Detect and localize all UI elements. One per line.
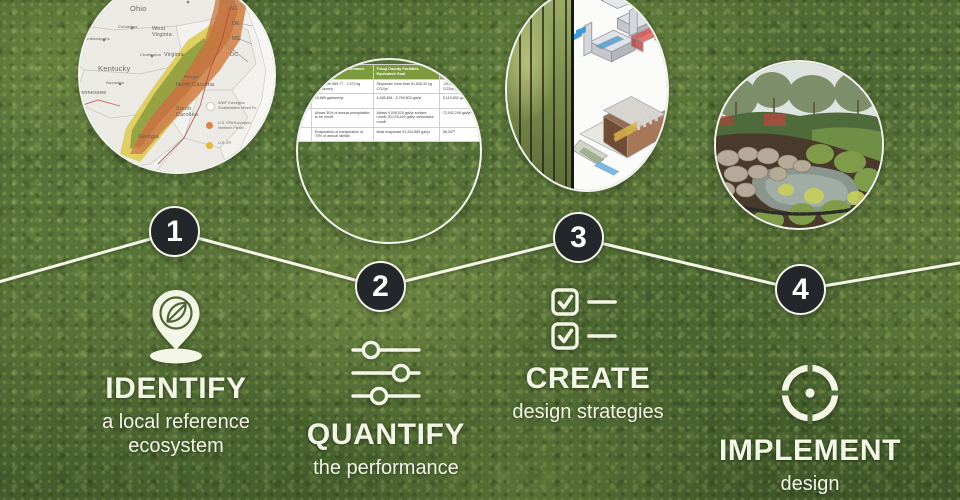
map-pin-leaf-icon <box>145 288 207 364</box>
photo-design-strategies <box>505 0 669 192</box>
step-number: 1 <box>166 217 183 247</box>
step-subtitle-line1: the performance <box>298 457 474 481</box>
step-block-create[interactable]: CREATE design strategies <box>498 286 678 425</box>
legend-label-line2: Southeastern Mixed Fo. <box>218 106 257 111</box>
step-number: 3 <box>570 223 587 253</box>
step-block-identify[interactable]: IDENTIFY a local reference ecosystem <box>86 288 266 458</box>
table-cell-metric: off Rate <box>296 108 312 127</box>
photo-performance-table: ce Ecosystem Performance Troup County Fa… <box>296 58 482 244</box>
legend-label-line1: U.S. EP. <box>218 141 232 146</box>
map-label-state: Ohio <box>130 4 147 13</box>
step-badge-3[interactable]: 3 <box>553 212 604 263</box>
legend-swatch <box>206 142 213 149</box>
map-label-state: Tennessee <box>78 90 106 96</box>
map-label-city: Indianapolis <box>86 36 110 41</box>
legend-label-line2: Northern Piedm. <box>218 126 251 131</box>
map-label-city: Raleigh <box>184 74 199 79</box>
map-label-state: MD <box>232 36 241 42</box>
performance-table: ce Ecosystem Performance Troup County Fa… <box>296 64 482 142</box>
step-number: 2 <box>372 272 389 302</box>
table-row: Sustainable Watershed Consumptive Use 10… <box>296 94 482 108</box>
step-title: QUANTIFY <box>298 418 474 452</box>
map-label-state: NJ <box>230 6 237 12</box>
table-cell-facility: -25,254,717.1 to -29,219,909.7 kg CO2/yr… <box>440 79 482 93</box>
map-label-city: Charleston <box>140 52 161 57</box>
step-title: IDENTIFY <box>86 372 266 406</box>
map-label-city: Columbus <box>118 24 138 29</box>
step-subtitle-line2: ecosystem <box>86 435 266 459</box>
map-label-city: Nashville <box>106 80 124 85</box>
table-header-cell: ce Ecosystem Performance <box>312 65 374 80</box>
step-badge-2[interactable]: 2 <box>355 261 406 312</box>
table-cell-goal: Allows 9,008,515 gal/yr surface runoff; … <box>374 108 440 127</box>
table-cell-reference: Allows 30% of annual precipitation to be… <box>312 108 374 127</box>
table-row: off Rate Allows 30% of annual precipitat… <box>296 108 482 127</box>
photo-ecoregion-map: Pennsylvania Ohio NJ DE MD DC West Virgi… <box>78 0 276 174</box>
table-cell-facility: 5,119,832 gal/yr <box>440 94 482 108</box>
map-label-state: Virginia <box>164 52 184 58</box>
step-block-implement[interactable]: IMPLEMENT design <box>700 362 920 497</box>
table-cell-reference: Sequester 889.77 - 1,972 kg CO2/acre/y <box>312 79 374 93</box>
table-cell-reference: 10,689 gal/acre/yr <box>312 94 374 108</box>
legend-entry: U.S. EPA Ecoregion Northern Piedm. <box>218 121 251 130</box>
legend-entry: WWF Ecoregion Southeastern Mixed Fo. <box>218 101 257 110</box>
step-subtitle-line1: design strategies <box>498 401 678 425</box>
table-cell-goal: 4,458,484 - 5,769,803 gal/yr <box>374 94 440 108</box>
step-subtitle-line1: a local reference <box>86 411 266 435</box>
table-cell-facility: 58,347³ <box>440 127 482 141</box>
legend-swatch <box>206 122 213 129</box>
step-title: CREATE <box>498 362 678 396</box>
table-cell-goal: Must evaporate 91,202,869 gal/yr <box>374 127 440 141</box>
target-icon <box>779 362 841 424</box>
table-header-cell: Troup County Facilities Equivalent Goal <box>374 65 440 80</box>
checklist-icon <box>549 286 627 352</box>
legend-label-line1: U.S. EPA Ecoregion <box>218 121 251 126</box>
table-row: on questration Sequester 889.77 - 1,972 … <box>296 79 482 93</box>
step-block-quantify[interactable]: QUANTIFY the performance <box>298 336 474 481</box>
table-row: n Evaporation or transpiration of 70% of… <box>296 127 482 141</box>
map-label-state: South Carolina <box>176 106 200 118</box>
isometric-building-diagram-icon <box>574 80 667 188</box>
map-label-state: DE <box>232 21 240 27</box>
sliders-icon <box>347 336 425 408</box>
table-header-blank <box>296 65 312 80</box>
diagram-panel <box>574 0 667 190</box>
map-label-state: West Virginia <box>152 26 180 38</box>
table-header-row: ce Ecosystem Performance Troup County Fa… <box>296 65 482 80</box>
legend-entry: U.S. EP. <box>218 141 232 146</box>
photo-rain-garden <box>714 60 884 230</box>
forest-photo-strip <box>507 0 574 190</box>
step-title: IMPLEMENT <box>700 434 920 468</box>
table-cell-goal: Sequester more than 81,845.30 kg CO2/yr <box>374 79 440 93</box>
map-label-state: Georgia <box>138 134 159 140</box>
map-label-state: DC <box>230 52 238 58</box>
step-number: 4 <box>792 275 809 305</box>
step-badge-1[interactable]: 1 <box>149 206 200 257</box>
table-cell-facility: 72,042,246 gal/yr² <box>440 108 482 127</box>
map-label-state: Kentucky <box>98 64 130 73</box>
table-header-cell: Facilitie <box>440 65 482 80</box>
table-cell-metric: n <box>296 127 312 141</box>
legend-swatch <box>206 102 215 111</box>
step-subtitle-line1: design <box>700 473 920 497</box>
table-cell-metric: on questration <box>296 79 312 93</box>
table-cell-reference: Evaporation or transpiration of 70% of a… <box>312 127 374 141</box>
table-cell-metric: Sustainable Watershed Consumptive Use <box>296 94 312 108</box>
rain-garden-illustration <box>716 62 882 228</box>
step-badge-4[interactable]: 4 <box>775 264 826 315</box>
infographic-canvas: Pennsylvania Ohio NJ DE MD DC West Virgi… <box>0 0 960 500</box>
map-label-state: North Carolina <box>176 82 214 88</box>
